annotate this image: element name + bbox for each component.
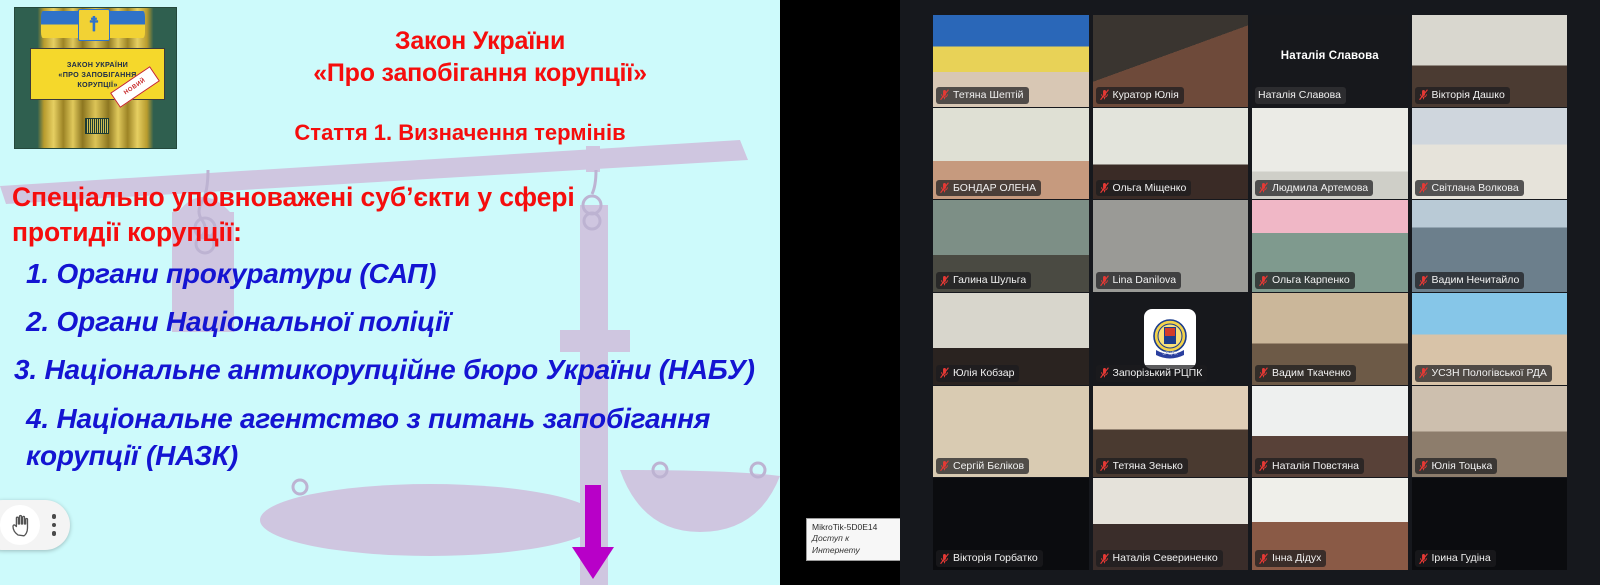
microphone-muted-icon [939,460,950,472]
participant-name: Сергій Бєліков [953,459,1024,474]
presenter-cursor-toolbar[interactable] [0,500,70,550]
participant-name: БОНДАР ОЛЕНА [953,181,1036,196]
participant-tile[interactable]: ЗРЦПК Запорізький РЦПК [1093,293,1249,385]
hand-pointer-icon[interactable] [0,505,40,545]
participant-tile[interactable]: Тетяна Шептій [933,15,1089,107]
participant-name: Наталія Славова [1258,88,1341,103]
microphone-muted-icon [1099,460,1110,472]
list-item: 2. Органи Національної поліції [26,303,766,340]
slide-title-line1: Закон України [200,26,760,58]
presentation-slide: ☨ ЗАКОН УКРАЇНИ «ПРО ЗАПОБІГАННЯ КОРУПЦІ… [0,0,780,585]
participant-tile[interactable]: Вадим Ткаченко [1252,293,1408,385]
microphone-muted-icon [1418,460,1429,472]
participant-name: Юлія Тоцька [1432,459,1493,474]
participant-name: Ольга Міщенко [1113,181,1187,196]
slide-lead-line1: Спеціально уповноважені суб’єкти у сфері [12,180,768,215]
microphone-muted-icon [1258,367,1269,379]
participant-name: Тетяна Шептій [953,88,1024,103]
participant-name: Ірина Гудіна [1432,551,1491,566]
microphone-muted-icon [1258,553,1269,565]
participant-name-bar: Інна Дідух [1255,550,1326,567]
participant-name: Інна Дідух [1272,551,1321,566]
microphone-muted-icon [1418,89,1429,101]
participant-name-bar: Куратор Юлія [1096,87,1184,104]
participant-tile[interactable]: Вадим Нечитайло [1412,200,1568,292]
microphone-muted-icon [1418,553,1429,565]
microphone-muted-icon [1099,182,1110,194]
participant-name-bar: БОНДАР ОЛЕНА [936,180,1041,197]
hand-glyph [11,514,30,537]
participant-name: Вадим Нечитайло [1432,273,1520,288]
participant-name: Наталія Повстяна [1272,459,1359,474]
participant-tile[interactable]: Наталія Повстяна [1252,386,1408,478]
participant-tile[interactable]: БОНДАР ОЛЕНА [933,108,1089,200]
participant-name: УСЗН Пологівської РДА [1432,366,1547,381]
participant-name: Куратор Юлія [1113,88,1179,103]
participant-name-bar: Тетяна Шептій [936,87,1029,104]
tryzub-emblem-icon: ☨ [78,9,110,41]
slide-lead-text: Спеціально уповноважені суб’єкти у сфері… [12,180,768,250]
microphone-muted-icon [1258,460,1269,472]
microphone-muted-icon [1099,89,1110,101]
law-book-cover-image: ☨ ЗАКОН УКРАЇНИ «ПРО ЗАПОБІГАННЯ КОРУПЦІ… [14,7,177,149]
participant-name: Людмила Артемова [1272,181,1368,196]
svg-text:ЗРЦПК: ЗРЦПК [1163,350,1179,355]
participant-tile[interactable]: Вікторія Горбатко [933,478,1089,570]
participant-tile[interactable]: Тетяна Зенько [1093,386,1249,478]
down-arrow-icon [570,485,616,581]
microphone-muted-icon [1418,367,1429,379]
microphone-muted-icon [939,367,950,379]
slide-title: Закон України «Про запобігання корупції» [200,26,760,89]
participant-name-bar: Ольга Міщенко [1096,180,1192,197]
microphone-muted-icon [1099,367,1110,379]
participant-name-bar: Наталія Севериненко [1096,550,1223,567]
participant-tile[interactable]: УСЗН Пологівської РДА [1412,293,1568,385]
participant-name: Запорізький РЦПК [1113,366,1203,381]
participant-name-bar: Вікторія Горбатко [936,550,1043,567]
participant-tile[interactable]: Сергій Бєліков [933,386,1089,478]
wifi-status: Доступ к Интернету [812,533,897,556]
participant-name: Тетяна Зенько [1113,459,1183,474]
participant-name-bar: Людмила Артемова [1255,180,1373,197]
participant-name: Галина Шульга [953,273,1026,288]
microphone-muted-icon [1099,553,1110,565]
participant-name-bar: Галина Шульга [936,272,1031,289]
zrcpk-emblem-icon: ЗРЦПК [1150,316,1190,362]
participant-tile[interactable]: Наталія СлавоваНаталія Славова [1252,15,1408,107]
participant-name: Світлана Волкова [1432,181,1519,196]
participant-name-bar: Запорізький РЦПК [1096,365,1208,382]
participant-tile[interactable]: Світлана Волкова [1412,108,1568,200]
participant-name-bar: Світлана Волкова [1415,180,1524,197]
participant-tile[interactable]: Інна Дідух [1252,478,1408,570]
slide-item-list: 1. Органи прокуратури (САП) 2. Органи На… [14,255,766,485]
microphone-muted-icon [1258,182,1269,194]
book-cover-line3: КОРУПЦІЇ» [77,80,117,89]
participant-name-bar: Наталія Славова [1255,87,1346,104]
participant-name-bar: Юлія Тоцька [1415,458,1498,475]
active-speaker-name: Наталія Славова [1252,50,1408,62]
microphone-muted-icon [939,182,950,194]
participant-name-bar: Сергій Бєліков [936,458,1029,475]
microphone-muted-icon [1258,275,1269,287]
participant-name: Наталія Севериненко [1113,551,1218,566]
microphone-muted-icon [939,89,950,101]
video-conference-panel: Тетяна Шептій Куратор ЮліяНаталія Славов… [900,0,1600,585]
participant-name: Вікторія Дашко [1432,88,1505,103]
wifi-network-tooltip: MikroTik-5D0E14 Доступ к Интернету [806,518,902,561]
participant-tile[interactable]: Галина Шульга [933,200,1089,292]
participant-name-bar: Вадим Нечитайло [1415,272,1525,289]
screen-capture: ☨ ЗАКОН УКРАЇНИ «ПРО ЗАПОБІГАННЯ КОРУПЦІ… [0,0,1600,585]
participant-name-bar: Вадим Ткаченко [1255,365,1356,382]
microphone-muted-icon [1418,182,1429,194]
participant-tile[interactable]: Юлія Тоцька [1412,386,1568,478]
microphone-muted-icon [1099,275,1110,287]
participant-tile[interactable]: Ольга Карпенко [1252,200,1408,292]
participant-tile[interactable]: Людмила Артемова [1252,108,1408,200]
microphone-muted-icon [939,553,950,565]
list-item: 3. Національне антикорупційне бюро Украї… [14,351,766,388]
participant-name: Lina Danilova [1113,273,1177,288]
participant-tile[interactable]: Ольга Міщенко [1093,108,1249,200]
participant-tile[interactable]: Наталія Севериненко [1093,478,1249,570]
organization-logo: ЗРЦПК [1144,309,1196,369]
participant-name: Вадим Ткаченко [1272,366,1351,381]
participant-name-bar: Lina Danilova [1096,272,1182,289]
participant-tile[interactable]: Куратор Юлія [1093,15,1249,107]
book-cover-line2: «ПРО ЗАПОБІГАННЯ [58,70,136,79]
participant-tile[interactable]: Юлія Кобзар [933,293,1089,385]
participant-name-bar: Юлія Кобзар [936,365,1019,382]
participant-tile[interactable]: Ірина Гудіна [1412,478,1568,570]
book-barcode-icon [85,118,109,134]
participant-tile[interactable]: Вікторія Дашко [1412,15,1568,107]
participant-name: Вікторія Горбатко [953,551,1038,566]
slide-lead-line2: протидії корупції: [12,215,768,250]
participant-name: Ольга Карпенко [1272,273,1350,288]
microphone-muted-icon [1418,275,1429,287]
participant-name-bar: Тетяна Зенько [1096,458,1188,475]
participant-name-bar: Ольга Карпенко [1255,272,1355,289]
slide-article-heading: Стаття 1. Визначення термінів [170,120,750,146]
participant-tile[interactable]: Lina Danilova [1093,200,1249,292]
list-item: 1. Органи прокуратури (САП) [26,255,766,292]
participant-name-bar: УСЗН Пологівської РДА [1415,365,1552,382]
more-options-icon[interactable] [52,514,57,536]
slide-title-line2: «Про запобігання корупції» [200,58,760,90]
participant-grid: Тетяна Шептій Куратор ЮліяНаталія Славов… [933,15,1567,570]
microphone-muted-icon [939,275,950,287]
participant-name-bar: Ірина Гудіна [1415,550,1496,567]
participant-name-bar: Наталія Повстяна [1255,458,1364,475]
wifi-ssid: MikroTik-5D0E14 [812,522,897,533]
participant-name: Юлія Кобзар [953,366,1014,381]
participant-name-bar: Вікторія Дашко [1415,87,1510,104]
list-item: 4. Національне агентство з питань запобі… [26,400,766,474]
book-cover-line1: ЗАКОН УКРАЇНИ [67,60,128,69]
